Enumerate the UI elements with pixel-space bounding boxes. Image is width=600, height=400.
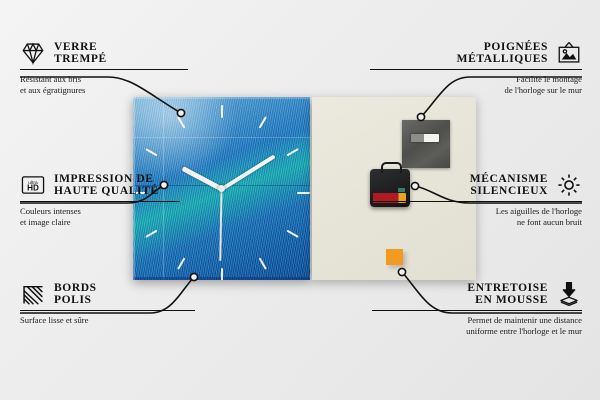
callout-rule: [20, 201, 180, 202]
foam-spacer: [386, 249, 403, 265]
callout-title-line1: MÉCANISME: [470, 173, 548, 185]
callout-desc-line2: et image claire: [20, 217, 71, 227]
callout-desc-line1: Résistant aux bris: [20, 74, 81, 84]
callout-title-line1: IMPRESSION DE: [54, 173, 154, 185]
callout-poignees-metalliques: POIGNÉES MÉTALLIQUES Facilite le montage…: [370, 40, 582, 96]
callout-title-line1: BORDS: [54, 282, 97, 294]
callout-title-line1: VERRE: [54, 41, 97, 53]
picture-frame-hanger-icon: [556, 40, 582, 66]
callout-desc-line1: Permet de maintenir une distance: [467, 315, 582, 325]
callout-desc-line1: Les aiguilles de l'horloge: [496, 206, 582, 216]
callout-desc-line2: de l'horloge sur le mur: [505, 85, 582, 95]
foam-spacer-icon: [556, 281, 582, 307]
callout-title-line2: SILENCIEUX: [470, 185, 548, 197]
callout-rule: [370, 69, 582, 70]
callout-title-line2: EN MOUSSE: [475, 294, 548, 306]
callout-title-line2: TREMPÉ: [54, 53, 107, 65]
callout-desc-line1: Couleurs intenses: [20, 206, 81, 216]
callout-title-line1: POIGNÉES: [484, 41, 548, 53]
callout-verre-trempe: VERRE TREMPÉ Résistant aux bris et aux é…: [20, 40, 230, 96]
callout-rule: [372, 201, 582, 202]
callout-title-line2: POLIS: [54, 294, 92, 306]
callout-rule: [20, 310, 195, 311]
svg-text:HD: HD: [27, 184, 39, 193]
callout-desc-line2: ne font aucun bruit: [517, 217, 582, 227]
callout-bords-polis: BORDS POLIS Surface lisse et sûre: [20, 281, 230, 326]
callout-mecanisme-silencieux: MÉCANISME SILENCIEUX Les aiguilles de l'…: [372, 172, 582, 228]
polished-edges-icon: [20, 281, 46, 307]
diamond-icon: [20, 40, 46, 66]
callout-desc-line1: Surface lisse et sûre: [20, 315, 89, 325]
callout-title-line2: HAUTE QUALITÉ: [54, 185, 159, 197]
callout-title-line1: ENTRETOISE: [467, 282, 548, 294]
metal-hanger-plate: [402, 120, 450, 168]
gear-icon: [556, 172, 582, 198]
callout-desc-line1: Facilite le montage: [516, 74, 582, 84]
infographic-stage: VERRE TREMPÉ Résistant aux bris et aux é…: [0, 0, 600, 400]
callout-title-line2: MÉTALLIQUES: [457, 53, 548, 65]
callout-impression-haute-qualite: ultra HD IMPRESSION DE HAUTE QUALITÉ Cou…: [20, 172, 230, 228]
callout-rule: [372, 310, 582, 311]
callout-desc-line2: et aux égratignures: [20, 85, 85, 95]
callout-rule: [20, 69, 188, 70]
callout-entretoise-en-mousse: ENTRETOISE EN MOUSSE Permet de maintenir…: [372, 281, 582, 337]
ultra-hd-icon: ultra HD: [20, 172, 46, 198]
callout-desc-line2: uniforme entre l'horloge et le mur: [466, 326, 582, 336]
